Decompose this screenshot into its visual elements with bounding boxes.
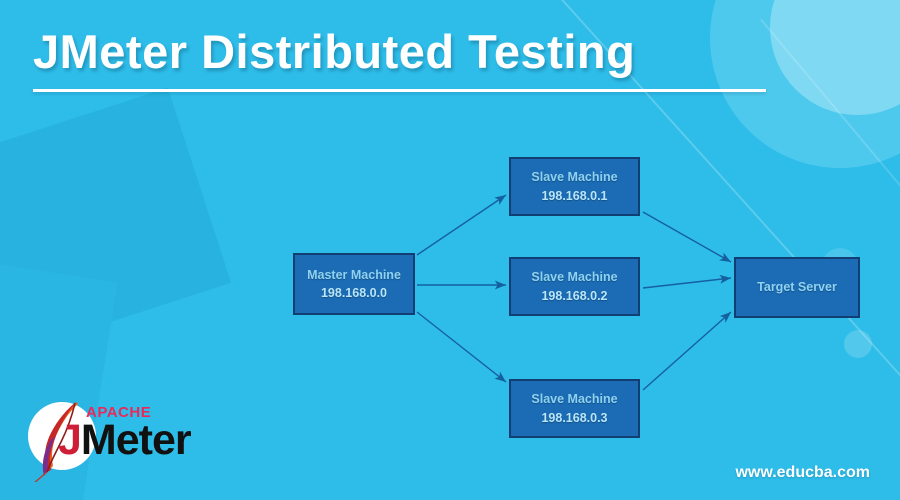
- node-label: Slave Machine: [531, 168, 617, 186]
- edge-slave2-to-target: [643, 278, 731, 288]
- node-label: Slave Machine: [531, 268, 617, 286]
- node-slave-machine-3[interactable]: Slave Machine 198.168.0.3: [509, 379, 640, 438]
- slide-canvas: JMeter Distributed Testing Master Machin…: [0, 0, 900, 500]
- edge-master-to-slave3: [417, 312, 506, 382]
- node-ip: 198.168.0.3: [541, 409, 607, 427]
- node-label: Target Server: [757, 278, 837, 296]
- logo-jmeter-text: JMeter: [58, 416, 191, 465]
- node-label: Master Machine: [307, 266, 401, 284]
- node-ip: 198.168.0.2: [541, 287, 607, 305]
- site-url: www.educba.com: [735, 464, 870, 482]
- node-label: Slave Machine: [531, 390, 617, 408]
- logo-jmeter-rest: Meter: [81, 416, 191, 464]
- apache-jmeter-logo: APACHE JMeter: [28, 392, 228, 474]
- node-slave-machine-2[interactable]: Slave Machine 198.168.0.2: [509, 257, 640, 316]
- node-target-server[interactable]: Target Server: [734, 257, 860, 318]
- edge-slave1-to-target: [643, 212, 731, 262]
- node-master-machine[interactable]: Master Machine 198.168.0.0: [293, 253, 415, 315]
- node-slave-machine-1[interactable]: Slave Machine 198.168.0.1: [509, 157, 640, 216]
- edge-slave3-to-target: [643, 312, 731, 390]
- node-ip: 198.168.0.1: [541, 187, 607, 205]
- logo-jmeter-j: J: [58, 416, 81, 464]
- node-ip: 198.168.0.0: [321, 284, 387, 302]
- edge-master-to-slave1: [417, 195, 506, 255]
